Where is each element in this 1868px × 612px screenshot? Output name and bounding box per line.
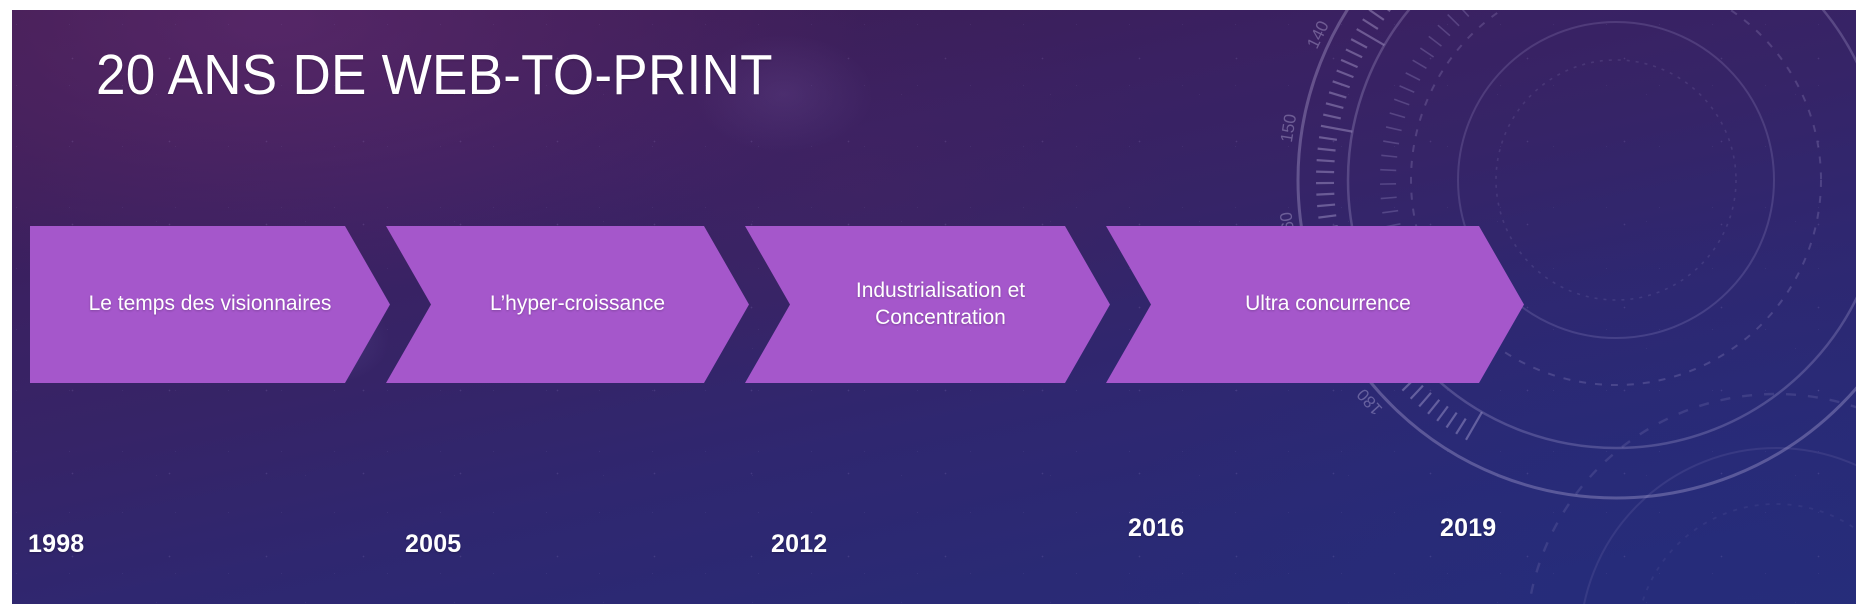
timeline-phase-1-label: Le temps des visionnaires	[89, 291, 332, 318]
timeline-phase-3-label: Industrialisation et Concentration	[830, 278, 1025, 332]
timeline-phase-2-label: L’hyper-croissance	[470, 291, 665, 318]
slide-frame: 180170160150140100 20 ANS DE WEB-TO-PRIN…	[0, 0, 1868, 612]
timeline-year-2019: 2019	[1440, 514, 1496, 543]
timeline-year-2012: 2012	[771, 530, 827, 559]
timeline-phase-4[interactable]: Ultra concurrence	[1106, 226, 1524, 383]
slide-canvas: 180170160150140100 20 ANS DE WEB-TO-PRIN…	[12, 10, 1856, 604]
timeline-year-2005: 2005	[405, 530, 461, 559]
timeline-phase-4-label: Ultra concurrence	[1219, 291, 1411, 318]
timeline-chevrons: Le temps des visionnaires L’hyper-croiss…	[12, 10, 1856, 604]
timeline-phase-2[interactable]: L’hyper-croissance	[386, 226, 749, 383]
timeline-year-1998: 1998	[28, 530, 84, 559]
timeline-phase-1[interactable]: Le temps des visionnaires	[30, 226, 390, 383]
timeline-year-2016: 2016	[1128, 514, 1184, 543]
timeline-phase-3[interactable]: Industrialisation et Concentration	[745, 226, 1110, 383]
